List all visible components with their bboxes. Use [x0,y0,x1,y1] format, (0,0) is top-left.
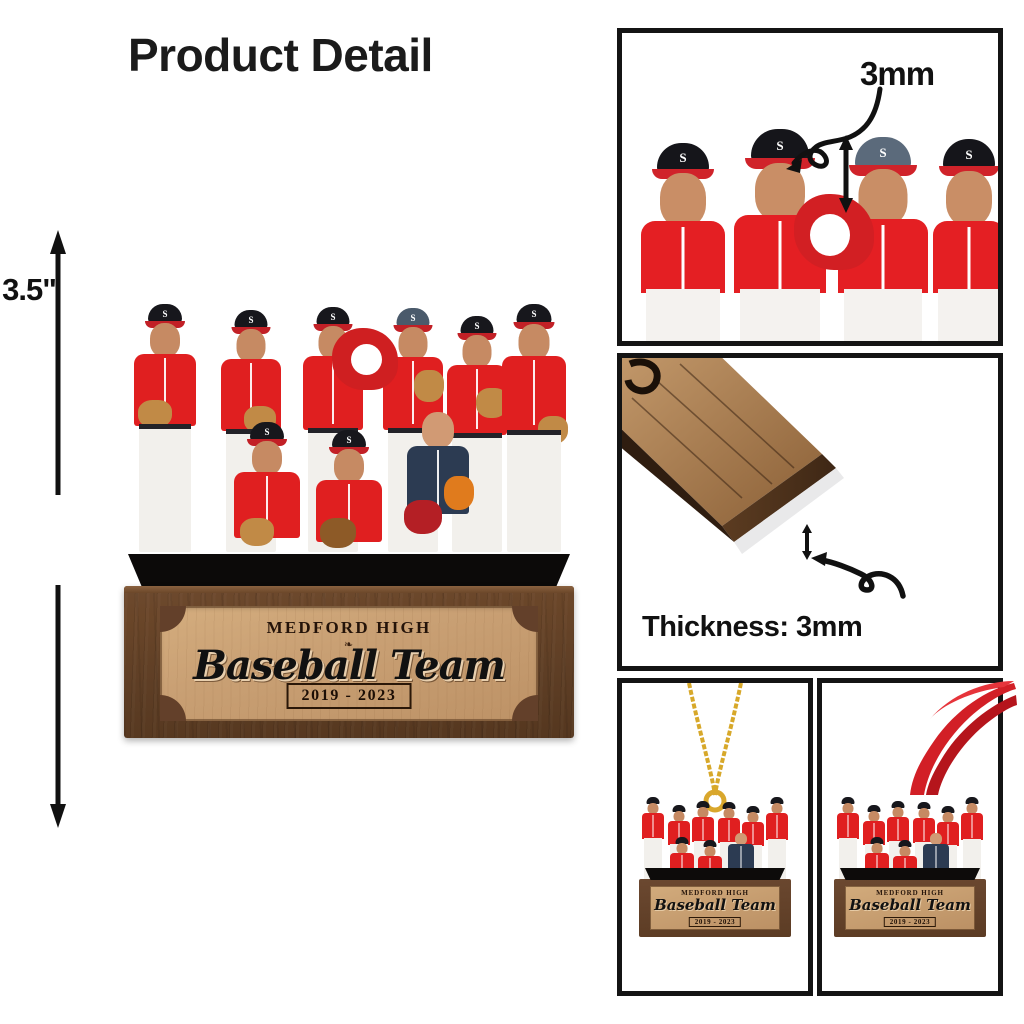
hole-detail-panel: 3mm [617,28,1003,346]
plaque-team-title: Baseball Team [160,642,538,689]
mini-player [960,797,984,879]
player-catcher [398,412,478,552]
mini-plaque: MEDFORD HIGH Baseball Team 2019 - 2023 [845,886,975,930]
mini-plaque: MEDFORD HIGH Baseball Team 2019 - 2023 [650,886,780,930]
team-photo [130,300,568,552]
mini-player [836,797,860,879]
red-ribbon-icon [838,679,1018,809]
main-product-preview: MEDFORD HIGH ❧ Baseball Team 2019 - 2023 [118,300,580,740]
crate-top-edge [124,586,574,593]
plaque-school-name: MEDFORD HIGH [160,618,538,638]
thickness-label: Thickness: 3mm [642,611,862,644]
chain-hanger-panel: MEDFORD HIGH Baseball Team 2019 - 2023 [617,678,813,996]
player-zoom [934,129,998,341]
plaque-years: 2019 - 2023 [302,687,397,704]
thickness-callout-arrow-icon [807,530,917,600]
wooden-crate: MEDFORD HIGH ❧ Baseball Team 2019 - 2023 [118,554,580,740]
mini-years: 2019 - 2023 [884,917,936,927]
mini-crate-interior [840,868,980,880]
mini-player [641,797,665,879]
mini-crate-interior [645,868,785,880]
player-standing [130,304,200,552]
mini-player [765,797,789,879]
mini-crate: MEDFORD HIGH Baseball Team 2019 - 2023 [639,879,791,937]
gold-chain-icon [655,683,775,813]
thickness-detail-panel: Thickness: 3mm [617,353,1003,671]
engraved-plaque: MEDFORD HIGH ❧ Baseball Team 2019 - 2023 [160,606,538,721]
ribbon-hanger-panel: MEDFORD HIGH Baseball Team 2019 - 2023 [817,678,1003,996]
mini-team-title: Baseball Team [650,896,780,914]
mini-team-photo [639,795,791,879]
mini-team-photo [834,795,986,879]
hanging-hole-marker [332,328,398,390]
dimension-arrow-icon [30,230,86,828]
mini-years: 2019 - 2023 [689,917,741,927]
plaque-years-box: 2019 - 2023 [287,683,412,709]
crate-face: MEDFORD HIGH ❧ Baseball Team 2019 - 2023 [124,586,574,738]
height-dimension-ruler [30,230,86,828]
height-dimension-label: 3.5" [0,272,66,308]
player-zoom [640,129,726,341]
hole-height-arrow-icon [834,135,858,213]
player-kneeling [312,426,386,552]
ornament-with-chain: MEDFORD HIGH Baseball Team 2019 - 2023 [639,795,791,937]
player-standing [498,304,570,552]
page-title: Product Detail [128,32,433,78]
mini-team-title: Baseball Team [845,896,975,914]
mini-crate: MEDFORD HIGH Baseball Team 2019 - 2023 [834,879,986,937]
product-detail-canvas: Product Detail 3.5" [0,0,1024,1024]
ornament-with-ribbon: MEDFORD HIGH Baseball Team 2019 - 2023 [834,795,986,937]
player-kneeling [230,422,304,552]
